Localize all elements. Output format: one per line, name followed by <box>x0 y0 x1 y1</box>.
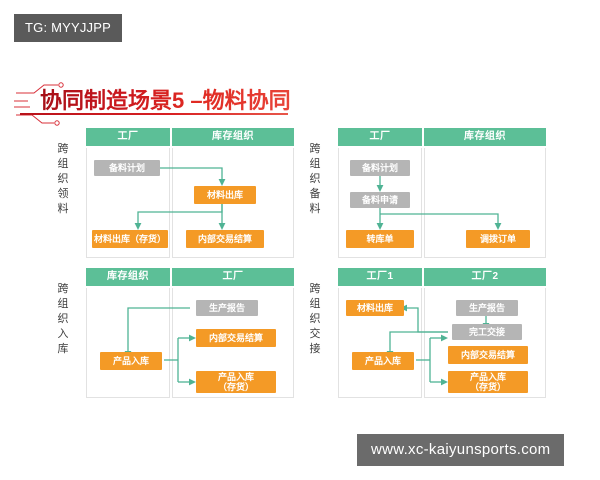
swimlane-column-left: 库存组织 <box>86 268 170 398</box>
swimlane-header: 库存组织 <box>86 268 170 286</box>
node-chanpin-ruku[interactable]: 产品入库 <box>100 352 162 370</box>
side-label-char: 备 <box>300 187 330 202</box>
quadrant-side-label: 跨 组 织 交 接 <box>300 282 330 357</box>
swimlane-header: 工厂 <box>86 128 170 146</box>
swimlane-header: 库存组织 <box>424 128 546 146</box>
side-label-char: 料 <box>300 202 330 217</box>
side-label-char: 组 <box>48 157 78 172</box>
node-shengchan-baogao[interactable]: 生产报告 <box>456 300 518 316</box>
swimlane-header: 工厂1 <box>338 268 422 286</box>
side-label-char: 组 <box>300 297 330 312</box>
swimlane-panel: 工厂 库存组织 备料计划 备料申请 转库单 <box>338 128 546 258</box>
node-label-line-2: （存货） <box>218 382 254 392</box>
node-zhuanku-dan[interactable]: 转库单 <box>346 230 414 248</box>
swimlane-header: 工厂2 <box>424 268 546 286</box>
node-neibu-jiaoyi-jiesuan[interactable]: 内部交易结算 <box>448 346 528 364</box>
node-beiliao-jihua[interactable]: 备料计划 <box>94 160 160 176</box>
tg-tag-badge: TG: MYYJJPP <box>14 14 122 42</box>
node-chanpin-ruku-cunhuo[interactable]: 产品入库 （存货） <box>196 371 276 393</box>
node-label-line-1: 产品入库 <box>470 372 506 382</box>
side-label-char: 织 <box>48 172 78 187</box>
page-title: 协同制造场景5 –物料协同 <box>40 88 291 114</box>
side-label-char: 织 <box>300 172 330 187</box>
side-label-char: 组 <box>48 297 78 312</box>
node-diaobo-dingdan[interactable]: 调拨订单 <box>466 230 530 248</box>
side-label-char: 织 <box>300 312 330 327</box>
side-label-char: 跨 <box>48 142 78 157</box>
side-label-char: 接 <box>300 342 330 357</box>
swimlane-header: 库存组织 <box>172 128 294 146</box>
quadrant-side-label: 跨 组 织 备 料 <box>300 142 330 217</box>
node-beiliao-shenqing[interactable]: 备料申请 <box>350 192 410 208</box>
swimlane-column-left: 工厂1 <box>338 268 422 398</box>
quadrant-side-label: 跨 组 织 领 料 <box>48 142 78 217</box>
node-neibu-jiaoyi-jiesuan[interactable]: 内部交易结算 <box>186 230 264 248</box>
title-underline <box>20 113 288 115</box>
side-label-char: 组 <box>300 157 330 172</box>
side-label-char: 织 <box>48 312 78 327</box>
node-label-line-2: （存货） <box>470 382 506 392</box>
node-wangong-jiaojie[interactable]: 完工交接 <box>452 324 522 340</box>
side-label-char: 领 <box>48 187 78 202</box>
scenario-board: 跨 组 织 领 料 工厂 库存组织 <box>0 128 600 413</box>
node-cailiao-chuku[interactable]: 材料出库 <box>346 300 404 316</box>
site-watermark: www.xc-kaiyunsports.com <box>357 434 564 466</box>
node-chanpin-ruku-cunhuo[interactable]: 产品入库 （存货） <box>448 371 528 393</box>
node-label-line-1: 产品入库 <box>218 372 254 382</box>
side-label-char: 料 <box>48 202 78 217</box>
node-neibu-jiaoyi-jiesuan[interactable]: 内部交易结算 <box>196 329 276 347</box>
node-shengchan-baogao[interactable]: 生产报告 <box>196 300 258 316</box>
node-beiliao-jihua[interactable]: 备料计划 <box>350 160 410 176</box>
swimlane-body <box>86 288 170 398</box>
side-label-char: 交 <box>300 327 330 342</box>
page-title-block: 协同制造场景5 –物料协同 <box>14 82 314 128</box>
swimlane-panel: 库存组织 工厂 生产报告 <box>86 268 294 398</box>
side-label-char: 入 <box>48 327 78 342</box>
swimlane-header: 工厂 <box>338 128 422 146</box>
quadrant-side-label: 跨 组 织 入 库 <box>48 282 78 357</box>
node-chanpin-ruku[interactable]: 产品入库 <box>352 352 414 370</box>
node-cailiao-chuku-cunhuo[interactable]: 材料出库（存货） <box>92 230 168 248</box>
side-label-char: 跨 <box>300 282 330 297</box>
side-label-char: 跨 <box>300 142 330 157</box>
side-label-char: 库 <box>48 342 78 357</box>
node-cailiao-chuku[interactable]: 材料出库 <box>194 186 256 204</box>
swimlane-panel: 工厂1 工厂2 <box>338 268 546 398</box>
swimlane-panel: 工厂 库存组织 备料计划 材料出库 材料出库（存货） <box>86 128 294 258</box>
swimlane-header: 工厂 <box>172 268 294 286</box>
side-label-char: 跨 <box>48 282 78 297</box>
